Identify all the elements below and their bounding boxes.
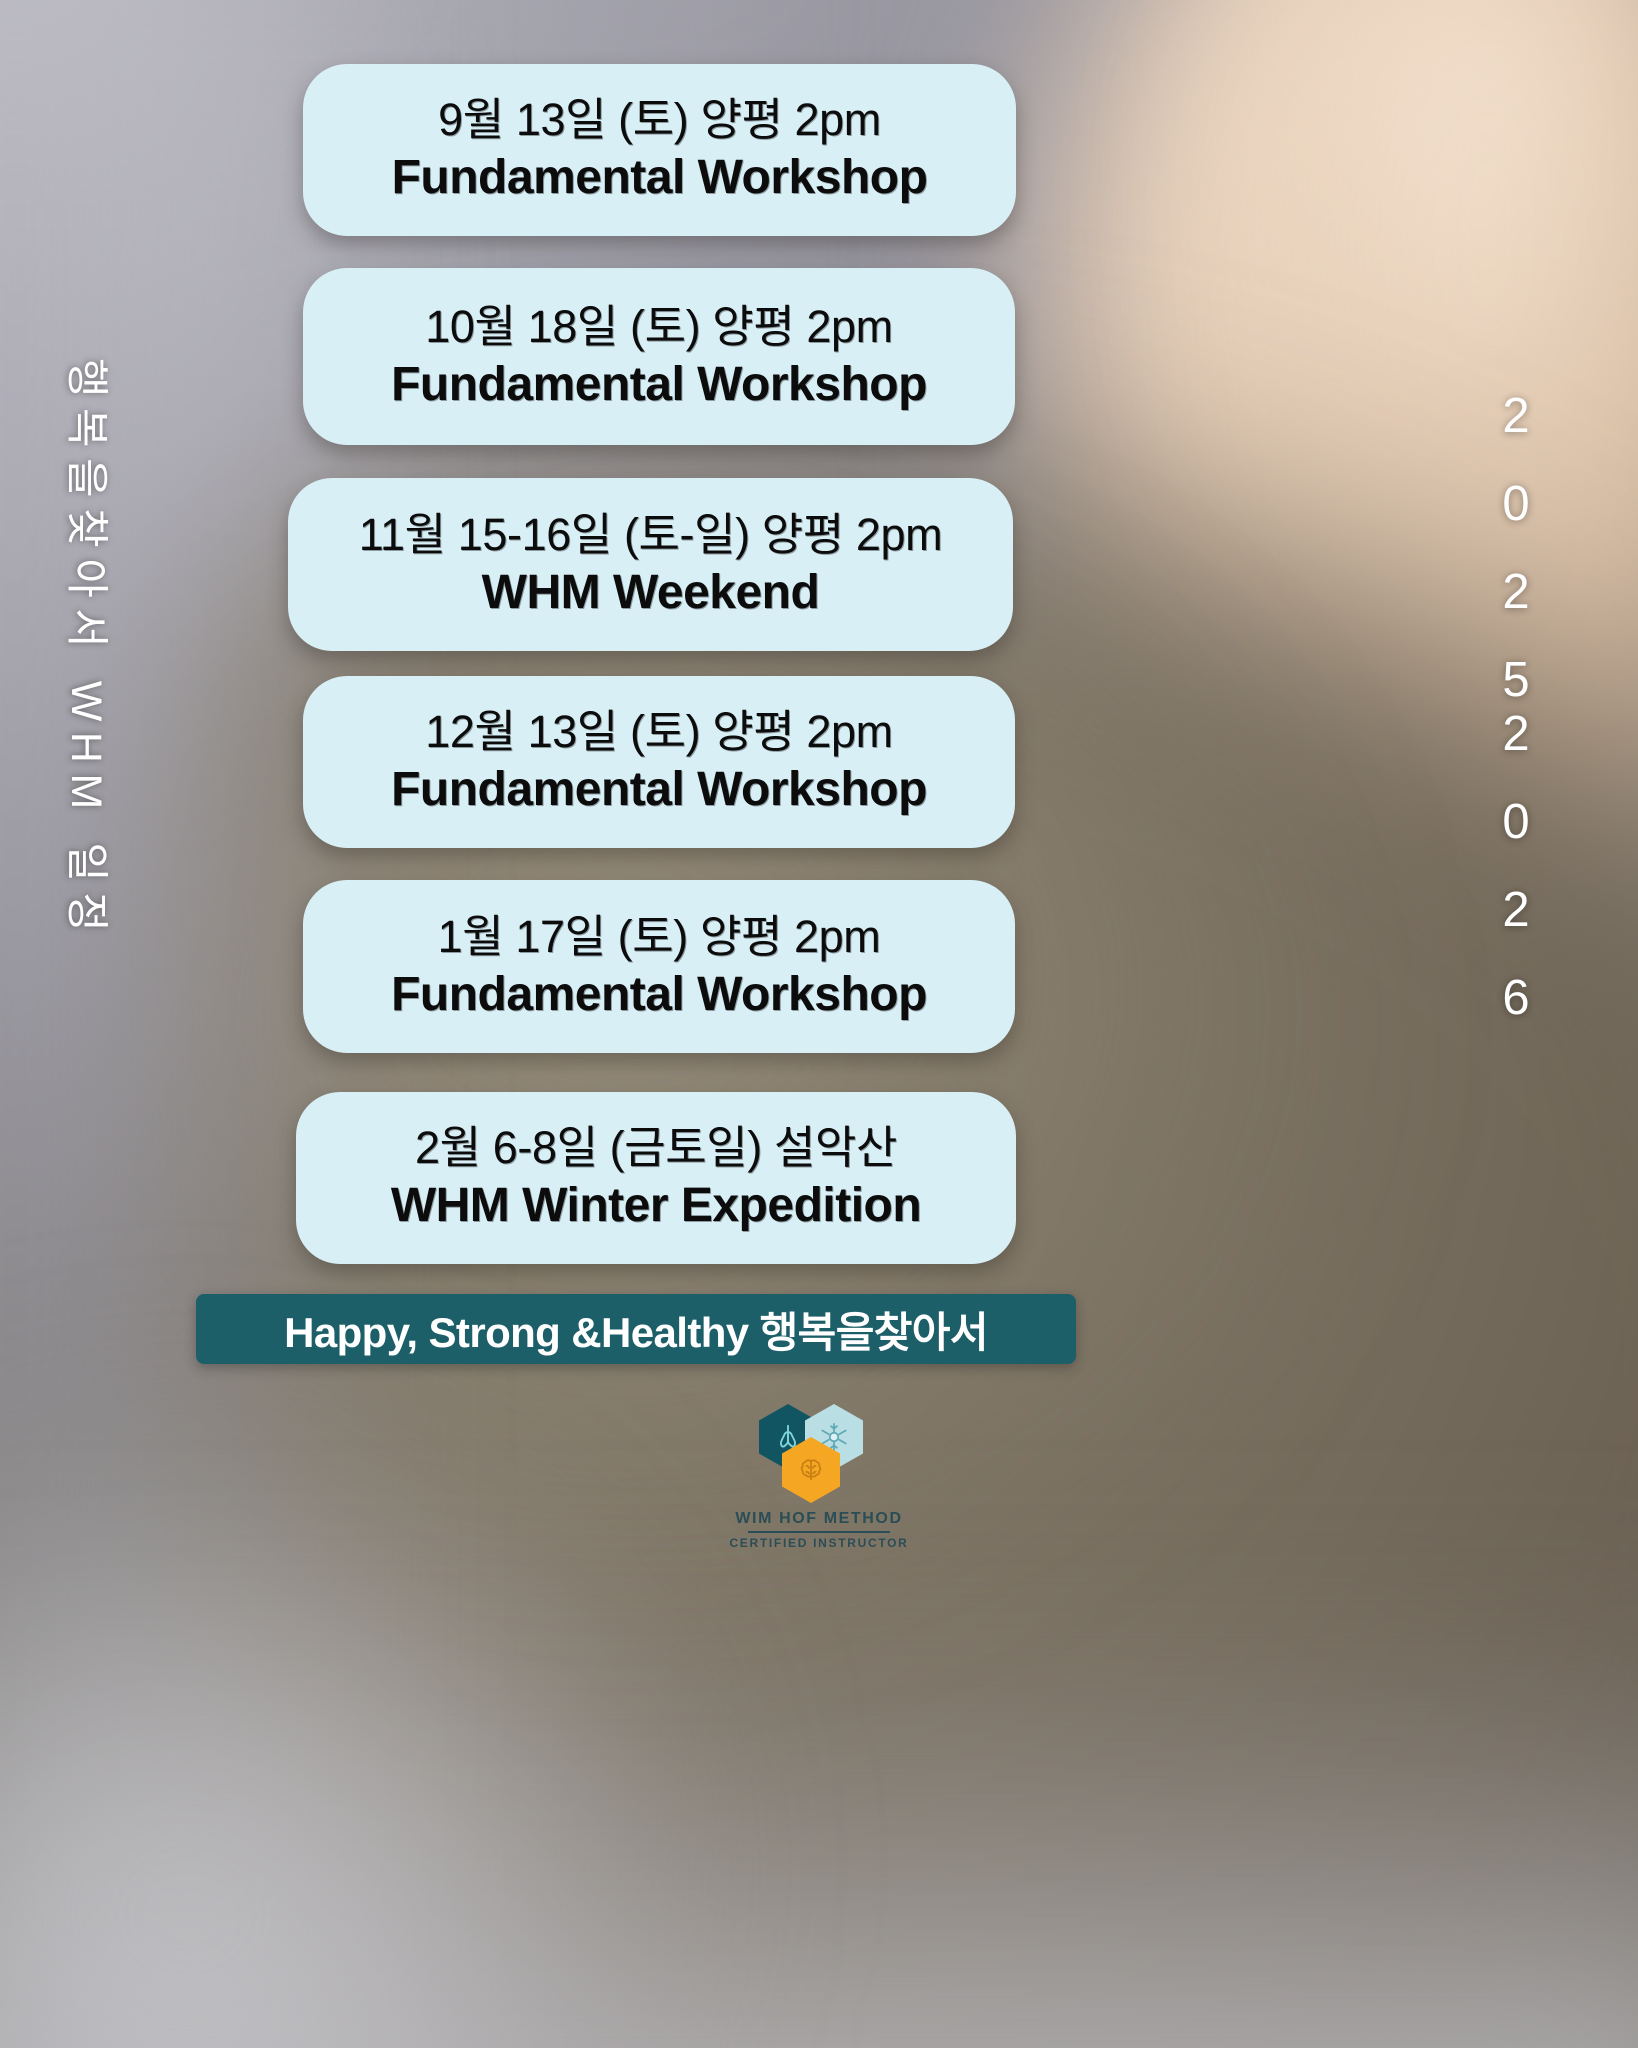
year-digit: 0 <box>1486 778 1546 866</box>
schedule-date: 1월 17일 (토) 양평 2pm <box>438 911 881 963</box>
schedule-card[interactable]: 1월 17일 (토) 양평 2pm Fundamental Workshop <box>303 880 1015 1053</box>
schedule-event: Fundamental Workshop <box>391 357 927 413</box>
schedule-date: 12월 13일 (토) 양평 2pm <box>425 706 892 758</box>
year-digit: 2 <box>1486 548 1546 636</box>
year-digit: 2 <box>1486 866 1546 954</box>
logo-hex-cluster <box>753 1404 885 1500</box>
year-label-2026: 2 0 2 6 <box>1486 690 1546 1042</box>
schedule-card[interactable]: 11월 15-16일 (토-일) 양평 2pm WHM Weekend <box>288 478 1013 651</box>
schedule-event: Fundamental Workshop <box>391 967 927 1023</box>
year-digit: 0 <box>1486 460 1546 548</box>
schedule-date: 9월 13일 (토) 양평 2pm <box>438 94 881 146</box>
logo-divider <box>748 1531 890 1533</box>
schedule-date: 2월 6-8일 (금토일) 설악산 <box>415 1122 897 1174</box>
schedule-event: WHM Winter Expedition <box>391 1178 921 1234</box>
year-digit: 2 <box>1486 690 1546 778</box>
schedule-event: WHM Weekend <box>482 565 820 621</box>
schedule-card[interactable]: 9월 13일 (토) 양평 2pm Fundamental Workshop <box>303 64 1016 236</box>
schedule-card[interactable]: 2월 6-8일 (금토일) 설악산 WHM Winter Expedition <box>296 1092 1016 1264</box>
schedule-event: Fundamental Workshop <box>391 762 927 818</box>
logo-title: WIM HOF METHOD <box>735 1510 902 1528</box>
tagline-banner: Happy, Strong &Healthy 행복을찾아서 <box>196 1294 1076 1364</box>
wim-hof-method-logo: WIM HOF METHOD CERTIFIED INSTRUCTOR <box>0 1404 1638 1550</box>
schedule-date: 10월 18일 (토) 양평 2pm <box>425 301 892 353</box>
year-digit: 6 <box>1486 954 1546 1042</box>
schedule-date: 11월 15-16일 (토-일) 양평 2pm <box>359 509 943 561</box>
vertical-title: 행복을찾아서 WHM 일정 <box>44 358 128 998</box>
schedule-card[interactable]: 10월 18일 (토) 양평 2pm Fundamental Workshop <box>303 268 1015 445</box>
schedule-card[interactable]: 12월 13일 (토) 양평 2pm Fundamental Workshop <box>303 676 1015 848</box>
logo-subtitle: CERTIFIED INSTRUCTOR <box>729 1536 908 1550</box>
year-label-2025: 2 0 2 5 <box>1486 372 1546 724</box>
schedule-event: Fundamental Workshop <box>392 150 928 206</box>
year-digit: 2 <box>1486 372 1546 460</box>
